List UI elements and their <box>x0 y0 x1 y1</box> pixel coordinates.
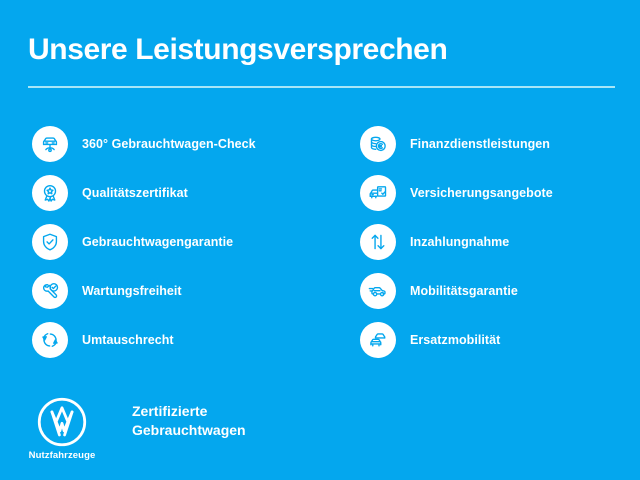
benefit-label: Gebrauchtwagengarantie <box>82 235 233 249</box>
title-divider <box>28 86 615 88</box>
promise-panel: Unsere Leistungsversprechen 360° Gebrauc… <box>0 0 640 480</box>
footer-text-line2: Gebrauchtwagen <box>132 421 246 440</box>
benefit-item[interactable]: 360° Gebrauchtwagen-Check <box>32 126 256 162</box>
benefit-label: Ersatzmobilität <box>410 333 500 347</box>
page-title: Unsere Leistungsversprechen <box>28 33 447 67</box>
coins-euro-icon <box>360 126 396 162</box>
car-speed-icon <box>360 273 396 309</box>
benefit-item[interactable]: Gebrauchtwagengarantie <box>32 224 256 260</box>
benefit-item[interactable]: Ersatzmobilität <box>360 322 553 358</box>
vw-logo <box>36 396 88 448</box>
wrench-check-icon <box>32 273 68 309</box>
brand-subtitle: Nutzfahrzeuge <box>29 450 96 461</box>
benefit-label: Mobilitätsgarantie <box>410 284 518 298</box>
footer-text: Zertifizierte Gebrauchtwagen <box>132 402 246 440</box>
award-rosette-icon <box>32 175 68 211</box>
benefit-label: Versicherungsangebote <box>410 186 553 200</box>
benefit-label: Umtauschrecht <box>82 333 174 347</box>
benefit-label: Wartungsfreiheit <box>82 284 182 298</box>
car-document-icon <box>360 175 396 211</box>
benefit-item[interactable]: Finanzdienstleistungen <box>360 126 553 162</box>
benefit-label: Inzahlungnahme <box>410 235 509 249</box>
benefit-item[interactable]: Mobilitätsgarantie <box>360 273 553 309</box>
benefits-right-column: Finanzdienstleistungen Versicherungsange… <box>360 126 553 371</box>
shield-check-icon <box>32 224 68 260</box>
benefit-item[interactable]: Versicherungsangebote <box>360 175 553 211</box>
benefit-item[interactable]: Qualitätszertifikat <box>32 175 256 211</box>
up-down-arrows-icon <box>360 224 396 260</box>
benefit-label: 360° Gebrauchtwagen-Check <box>82 137 256 151</box>
footer-branding: Nutzfahrzeuge Zertifizierte Gebrauchtwag… <box>28 396 246 461</box>
benefit-label: Finanzdienstleistungen <box>410 137 550 151</box>
car-check-icon <box>32 126 68 162</box>
benefits-left-column: 360° Gebrauchtwagen-Check Qualitätszerti… <box>32 126 256 371</box>
exchange-arrows-icon <box>32 322 68 358</box>
benefit-label: Qualitätszertifikat <box>82 186 188 200</box>
benefit-item[interactable]: Inzahlungnahme <box>360 224 553 260</box>
two-cars-icon <box>360 322 396 358</box>
benefit-item[interactable]: Wartungsfreiheit <box>32 273 256 309</box>
footer-text-line1: Zertifizierte <box>132 402 246 421</box>
brand-mark: Nutzfahrzeuge <box>28 396 96 461</box>
benefit-item[interactable]: Umtauschrecht <box>32 322 256 358</box>
